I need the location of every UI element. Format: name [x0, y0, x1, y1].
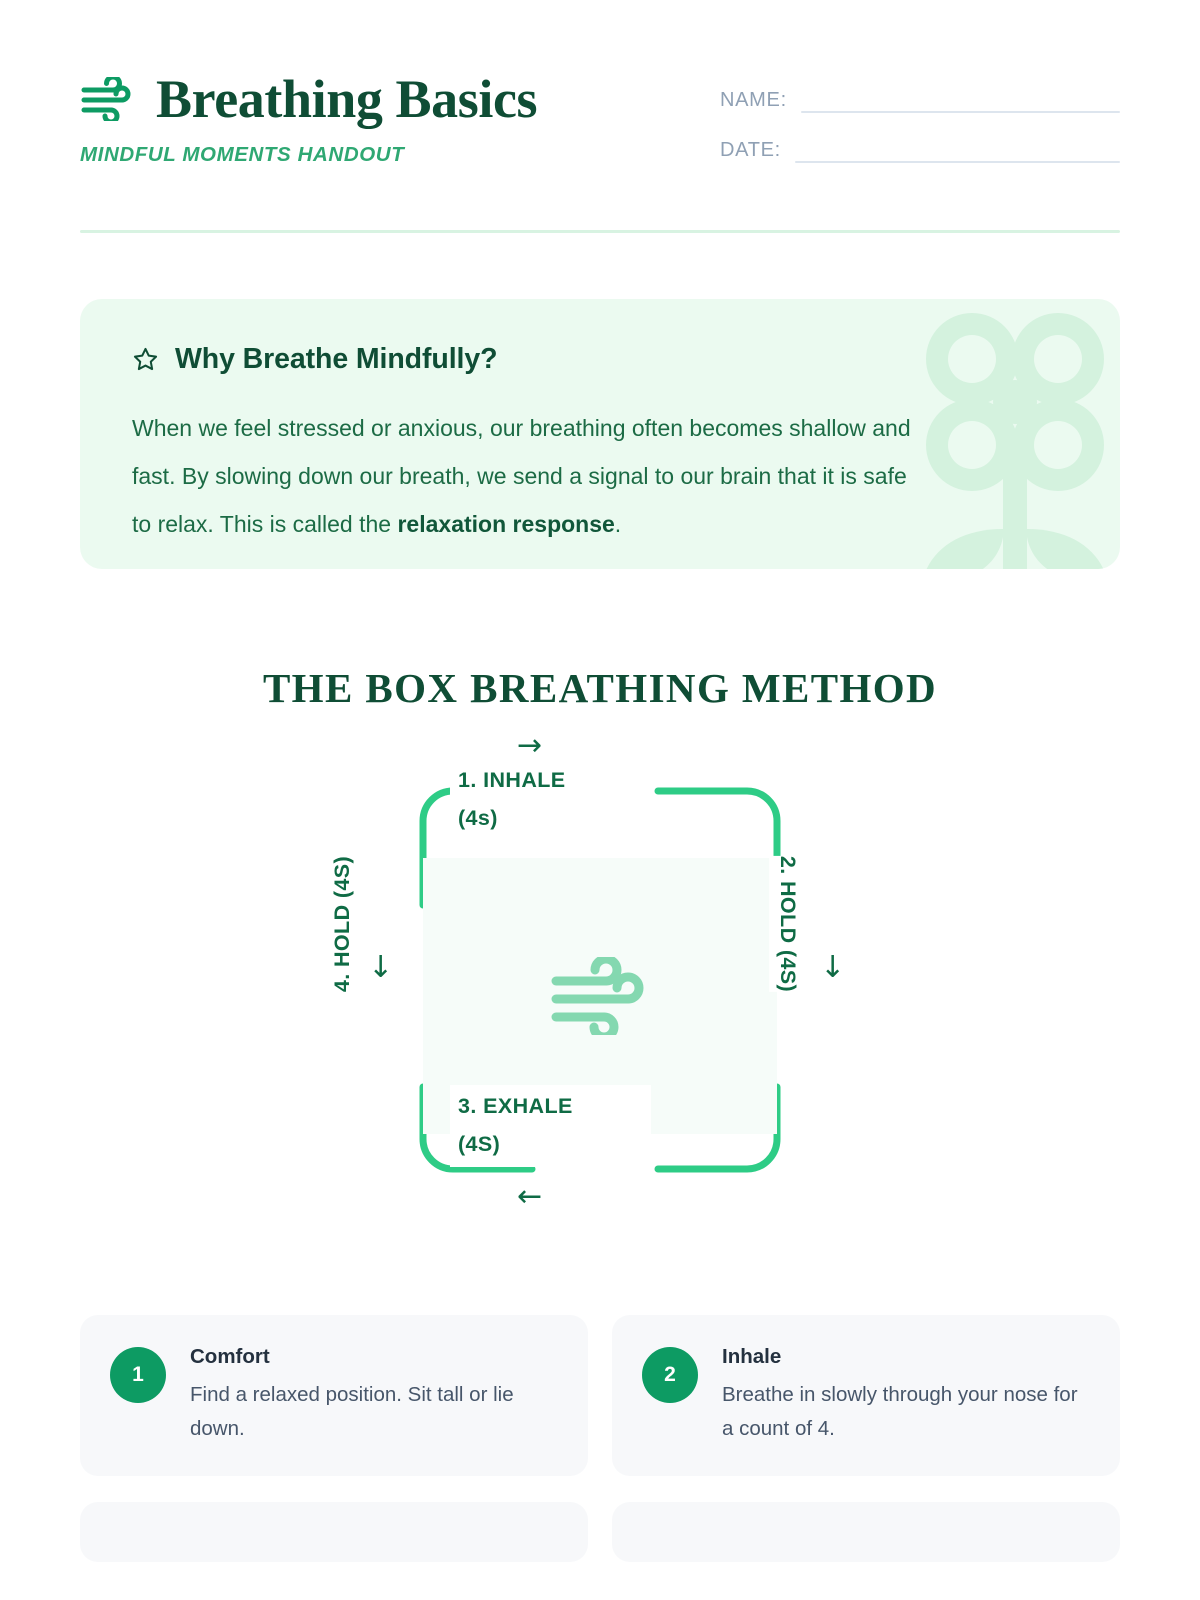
- arrow-down-icon: ↓: [368, 953, 393, 983]
- list-item: [80, 1502, 588, 1562]
- brand-block: Breathing Basics MINDFUL MOMENTS HANDOUT: [80, 72, 537, 167]
- brand-row: Breathing Basics: [80, 72, 537, 126]
- step-card-description: Breathe in slowly through your nose for …: [722, 1378, 1090, 1446]
- name-label: NAME:: [720, 90, 787, 113]
- callout-body-part2: .: [615, 511, 621, 537]
- header-divider: [80, 230, 1120, 233]
- date-field-row: DATE:: [720, 140, 1120, 163]
- steps-card-grid: 1 Comfort Find a relaxed position. Sit t…: [80, 1315, 1120, 1476]
- callout-title: Why Breathe Mindfully?: [175, 345, 497, 374]
- name-input-line[interactable]: [801, 111, 1120, 113]
- step-inhale-duration: (4s): [458, 799, 643, 837]
- step-exhale-name: 3. EXHALE: [458, 1087, 643, 1125]
- arrow-left-icon: ←: [517, 1182, 542, 1212]
- step-label-hold-4: 4. HOLD (4S): [323, 856, 361, 992]
- page-title: Breathing Basics: [156, 72, 537, 126]
- step-card-title: Inhale: [722, 1345, 1090, 1370]
- star-icon: [132, 346, 159, 373]
- arrow-right-icon: →: [517, 731, 542, 761]
- date-input-line[interactable]: [795, 161, 1120, 163]
- step-label-hold-2: 2. HOLD (4S): [769, 856, 807, 992]
- method-title: THE BOX BREATHING METHOD: [80, 664, 1120, 712]
- step-exhale-duration: (4S): [458, 1125, 643, 1163]
- step-card-title: Comfort: [190, 1345, 558, 1370]
- callout-body: When we feel stressed or anxious, our br…: [132, 404, 932, 548]
- step-card-text: Comfort Find a relaxed position. Sit tal…: [190, 1343, 558, 1446]
- handout-page: Breathing Basics MINDFUL MOMENTS HANDOUT…: [0, 0, 1200, 1600]
- steps-card-grid-next-row: [80, 1502, 1120, 1562]
- step-number-badge: 1: [110, 1347, 166, 1403]
- step-label-inhale: 1. INHALE (4s): [450, 759, 651, 841]
- arrow-down-icon: ↓: [820, 953, 845, 983]
- box-breathing-diagram: 1. INHALE (4s) 3. EXHALE (4S) 4. HOLD (4…: [320, 745, 880, 1245]
- list-item: [612, 1502, 1120, 1562]
- page-header: Breathing Basics MINDFUL MOMENTS HANDOUT…: [80, 0, 1120, 190]
- step-card-description: Find a relaxed position. Sit tall or lie…: [190, 1378, 558, 1446]
- date-label: DATE:: [720, 140, 781, 163]
- callout-body-bold: relaxation response: [397, 511, 614, 537]
- list-item: 2 Inhale Breathe in slowly through your …: [612, 1315, 1120, 1476]
- wind-icon: [548, 957, 652, 1035]
- flower-icon: [900, 299, 1120, 569]
- why-breathe-callout: Why Breathe Mindfully? When we feel stre…: [80, 299, 1120, 569]
- list-item: 1 Comfort Find a relaxed position. Sit t…: [80, 1315, 588, 1476]
- step-card-text: Inhale Breathe in slowly through your no…: [722, 1343, 1090, 1446]
- name-date-fields: NAME: DATE:: [720, 72, 1120, 190]
- page-subtitle: MINDFUL MOMENTS HANDOUT: [80, 143, 537, 167]
- step-label-exhale: 3. EXHALE (4S): [450, 1085, 651, 1167]
- step-inhale-name: 1. INHALE: [458, 761, 643, 799]
- wind-icon: [80, 77, 134, 121]
- callout-header: Why Breathe Mindfully?: [132, 345, 1068, 374]
- step-number-badge: 2: [642, 1347, 698, 1403]
- name-field-row: NAME:: [720, 90, 1120, 113]
